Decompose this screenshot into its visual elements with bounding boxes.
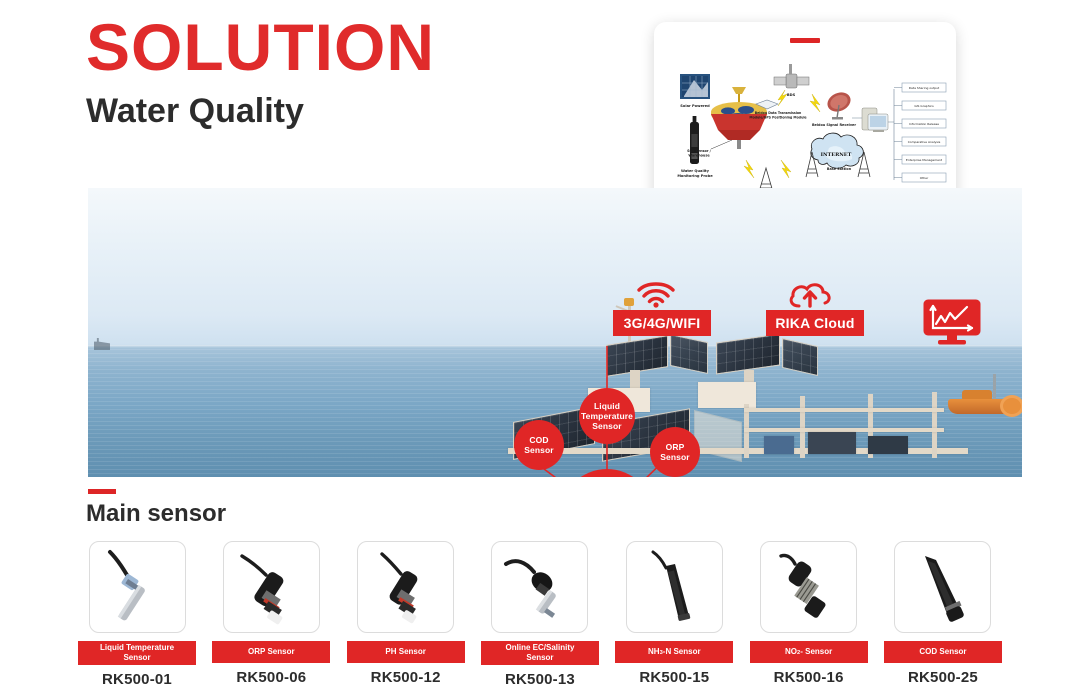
- product-grid: Liquid TemperatureSensor RK500-01 ORP Se…: [78, 541, 1002, 688]
- product-tag: ORP Sensor: [212, 641, 330, 663]
- svg-text:Other: Other: [920, 176, 929, 180]
- product-card-rk500-06[interactable]: ORP Sensor RK500-06: [212, 541, 330, 688]
- svg-text:Beidou Data Transmission: Beidou Data Transmission: [755, 111, 802, 115]
- nh3n-probe-icon: [627, 542, 722, 632]
- product-card-rk500-16[interactable]: NO2- Sensor RK500-16: [750, 541, 868, 688]
- page-title: SOLUTION: [86, 14, 435, 80]
- svg-text:Monitoring Probe: Monitoring Probe: [677, 174, 713, 178]
- product-tag: COD Sensor: [884, 641, 1002, 663]
- product-tag: Liquid TemperatureSensor: [78, 641, 196, 665]
- product-tag: NH3-N Sensor: [615, 641, 733, 663]
- product-image-nh3n: [626, 541, 723, 633]
- svg-text:Warehouse: Warehouse: [688, 154, 710, 158]
- product-model: RK500-12: [371, 669, 441, 686]
- page-subtitle: Water Quality: [86, 94, 435, 128]
- product-tag: PH Sensor: [347, 641, 465, 663]
- product-image-ph: [357, 541, 454, 633]
- product-model: RK500-25: [908, 669, 978, 686]
- product-model: RK500-15: [639, 669, 709, 686]
- wifi-icon: [636, 281, 676, 308]
- rika-cloud-chip[interactable]: RIKA Cloud: [766, 310, 864, 336]
- orp-probe-icon: [224, 542, 319, 632]
- network-chip[interactable]: 3G/4G/WIFI: [613, 310, 711, 336]
- svg-text:GIS Graphics: GIS Graphics: [914, 104, 934, 108]
- product-card-rk500-12[interactable]: PH Sensor RK500-12: [347, 541, 465, 688]
- sensor-node-label: LiquidTemperatureSensor: [581, 401, 633, 431]
- svg-text:Data Sharing output: Data Sharing output: [909, 86, 940, 90]
- svg-text:Base Station: Base Station: [827, 167, 852, 171]
- section-title: Main sensor: [86, 500, 226, 528]
- svg-text:Information Release: Information Release: [909, 122, 939, 126]
- product-model: RK500-16: [774, 669, 844, 686]
- cod-probe-icon: [895, 542, 990, 632]
- svg-text:INTERNET: INTERNET: [821, 152, 852, 158]
- product-image-ec-salinity: [491, 541, 588, 633]
- sensor-node-cod[interactable]: COD Sensor: [514, 420, 564, 470]
- sensor-node-label: ORP Sensor: [654, 442, 696, 462]
- monitor-chart-icon: [922, 298, 982, 346]
- system-architecture-card[interactable]: Solar Powered Water Quality Monitoring P…: [654, 22, 956, 210]
- product-card-rk500-13[interactable]: Online EC/SalinitySensor RK500-13: [481, 541, 599, 688]
- product-model: RK500-13: [505, 671, 575, 688]
- temperature-probe-icon: [90, 542, 185, 632]
- svg-text:Module/GPS Positioning Module: Module/GPS Positioning Module: [749, 116, 806, 120]
- system-architecture-diagram: Solar Powered Water Quality Monitoring P…: [654, 52, 956, 207]
- product-tag: NO2- Sensor: [750, 641, 868, 663]
- no2-probe-icon: [761, 542, 856, 632]
- product-image-liquid-temperature: [89, 541, 186, 633]
- svg-text:Sub-sensor /: Sub-sensor /: [687, 149, 712, 153]
- svg-text:Comparative Analysis: Comparative Analysis: [908, 140, 941, 144]
- product-tag: Online EC/SalinitySensor: [481, 641, 599, 665]
- product-image-no2: [760, 541, 857, 633]
- section-accent-dash: [88, 489, 116, 494]
- cloud-upload-icon: [787, 279, 833, 309]
- svg-text:Water Quality: Water Quality: [681, 169, 710, 173]
- product-card-rk500-01[interactable]: Liquid TemperatureSensor RK500-01: [78, 541, 196, 688]
- page-header: SOLUTION Water Quality: [86, 14, 435, 128]
- svg-text:Beidou Signal Receiver: Beidou Signal Receiver: [812, 123, 856, 127]
- product-model: RK500-01: [102, 671, 172, 688]
- ec-salinity-probe-icon: [492, 542, 587, 632]
- svg-text:BDS: BDS: [787, 93, 796, 97]
- sensor-node-orp[interactable]: ORP Sensor: [650, 427, 700, 477]
- rika-cloud-chip-label: RIKA Cloud: [775, 315, 854, 331]
- network-chip-label: 3G/4G/WIFI: [624, 315, 701, 331]
- accent-dash: [790, 38, 820, 43]
- water-quality-hub-diagram: WATER QUALITY LiquidTemperatureSensor OR…: [88, 188, 1022, 477]
- svg-text:Solar Powered: Solar Powered: [680, 104, 710, 108]
- product-image-cod: [894, 541, 991, 633]
- product-model: RK500-06: [236, 669, 306, 686]
- sensor-node-label: COD Sensor: [518, 435, 560, 455]
- product-image-orp: [223, 541, 320, 633]
- product-card-rk500-15[interactable]: NH3-N Sensor RK500-15: [615, 541, 733, 688]
- hero-banner: WATER QUALITY LiquidTemperatureSensor OR…: [88, 188, 1022, 477]
- svg-text:Enterprise Management: Enterprise Management: [906, 158, 943, 162]
- product-card-rk500-25[interactable]: COD Sensor RK500-25: [884, 541, 1002, 688]
- sensor-node-liquid-temperature[interactable]: LiquidTemperatureSensor: [579, 388, 635, 444]
- ph-probe-icon: [358, 542, 453, 632]
